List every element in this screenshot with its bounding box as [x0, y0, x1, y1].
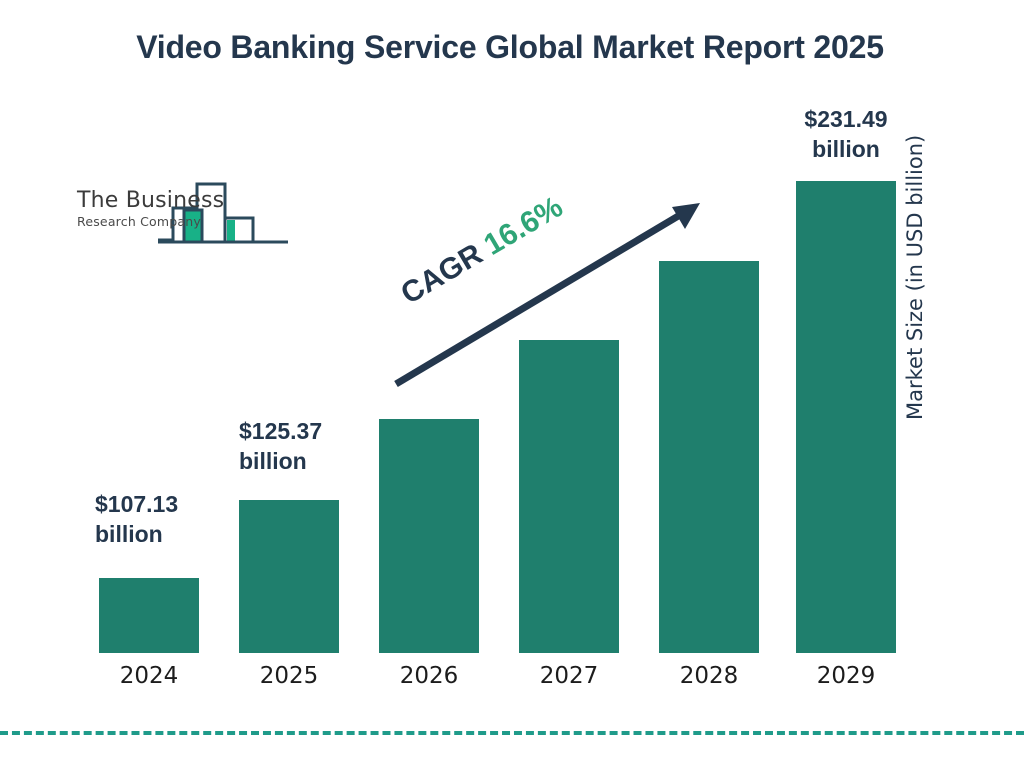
bar-value-label-2025: $125.37 billion: [239, 416, 322, 477]
x-tick-2024: 2024: [99, 663, 199, 689]
bar-2029: [796, 181, 896, 653]
bar-value-label-2025-line2: billion: [239, 446, 322, 476]
logo-text-main: The Business: [77, 190, 217, 212]
bar-2028: [659, 261, 759, 653]
x-tick-2029: 2029: [796, 663, 896, 689]
y-axis-title: Market Size (in USD billion): [903, 60, 927, 420]
cagr-label: CAGR: [395, 238, 488, 311]
cagr-annotation: CAGR16.6%: [396, 192, 568, 310]
logo-text: The Business Research Company: [77, 190, 217, 229]
logo-text-sub: Research Company: [77, 216, 217, 229]
footer-divider: [0, 731, 1024, 735]
bar-value-label-2024-line1: $107.13: [95, 489, 178, 519]
bar-chart-plot: $107.13 billion $125.37 billion $231.49 …: [0, 0, 1024, 768]
bar-value-label-2025-line1: $125.37: [239, 416, 322, 446]
bar-value-label-2024-line2: billion: [95, 519, 178, 549]
bar-2026: [379, 419, 479, 653]
chart-page: Video Banking Service Global Market Repo…: [0, 0, 1024, 768]
cagr-value: 16.6%: [478, 190, 568, 262]
bar-value-label-2024: $107.13 billion: [95, 489, 178, 550]
bar-2025: [239, 500, 339, 653]
x-tick-2026: 2026: [379, 663, 479, 689]
bar-value-label-2029: $231.49 billion: [776, 104, 916, 165]
x-tick-2027: 2027: [519, 663, 619, 689]
x-tick-2028: 2028: [659, 663, 759, 689]
bar-2027: [519, 340, 619, 653]
bar-2024: [99, 578, 199, 653]
bar-value-label-2029-line1: $231.49: [776, 104, 916, 134]
company-logo: The Business Research Company: [73, 178, 288, 250]
x-tick-2025: 2025: [239, 663, 339, 689]
bar-value-label-2029-line2: billion: [776, 134, 916, 164]
